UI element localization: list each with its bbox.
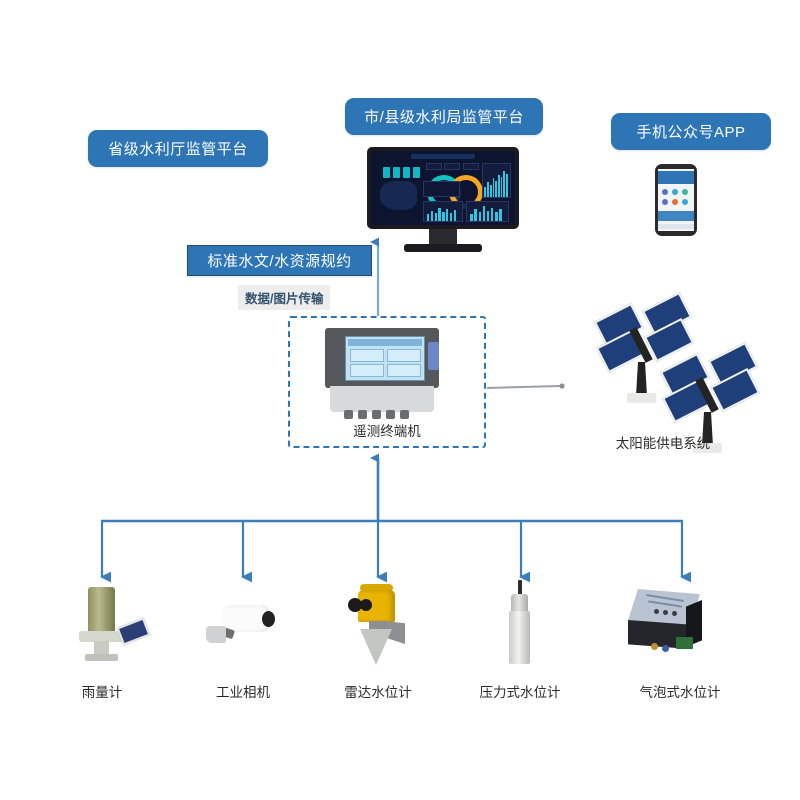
platform-provincial-button[interactable]: 省级水利厅监管平台 xyxy=(88,130,268,167)
solar-caption: 太阳能供电系统 xyxy=(588,432,738,452)
protocol-label-text: 标准水文/水资源规约 xyxy=(207,250,351,271)
antenna-line xyxy=(487,386,560,388)
platform-municipal-button[interactable]: 市/县级水利局监管平台 xyxy=(345,98,543,135)
transmission-label: 数据/图片传输 xyxy=(238,285,330,310)
solar-caption-text: 太阳能供电系统 xyxy=(616,436,711,451)
sensor-caption-3: 雷达水位计 xyxy=(328,681,428,701)
rtu-caption: 遥测终端机 xyxy=(288,420,486,440)
platform-provincial-label: 省级水利厅监管平台 xyxy=(108,138,248,159)
transmission-label-text: 数据/图片传输 xyxy=(245,292,323,306)
platform-mobile-app-label: 手机公众号APP xyxy=(636,121,745,142)
diagram-canvas: 省级水利厅监管平台 市/县级水利局监管平台 手机公众号APP xyxy=(0,0,800,800)
platform-municipal-label: 市/县级水利局监管平台 xyxy=(364,106,524,127)
monitor-stand xyxy=(404,244,482,252)
dashboard-title-bar xyxy=(411,154,474,159)
platform-mobile-app-button[interactable]: 手机公众号APP xyxy=(611,113,771,150)
monitor-neck xyxy=(429,229,457,245)
sensor-caption-1-text: 雨量计 xyxy=(82,685,123,700)
sensor-caption-5: 气泡式水位计 xyxy=(620,681,740,701)
radar-horn-icon xyxy=(360,629,392,665)
rtu-lcd-screen xyxy=(345,336,425,381)
sensor-caption-1: 雨量计 xyxy=(52,681,152,701)
rtu-caption-text: 遥测终端机 xyxy=(353,424,421,439)
sensor-caption-4-text: 压力式水位计 xyxy=(480,685,561,700)
sensor-caption-2-text: 工业相机 xyxy=(216,685,270,700)
sensor-caption-4: 压力式水位计 xyxy=(470,681,570,701)
sensor-caption-3-text: 雷达水位计 xyxy=(344,685,412,700)
antenna-tip-icon xyxy=(559,383,564,388)
protocol-label-box: 标准水文/水资源规约 xyxy=(187,245,372,276)
sensor-caption-5-text: 气泡式水位计 xyxy=(640,685,721,700)
sensor-caption-2: 工业相机 xyxy=(193,681,293,701)
monitor-screen xyxy=(371,151,515,225)
phone-screen xyxy=(658,169,694,231)
